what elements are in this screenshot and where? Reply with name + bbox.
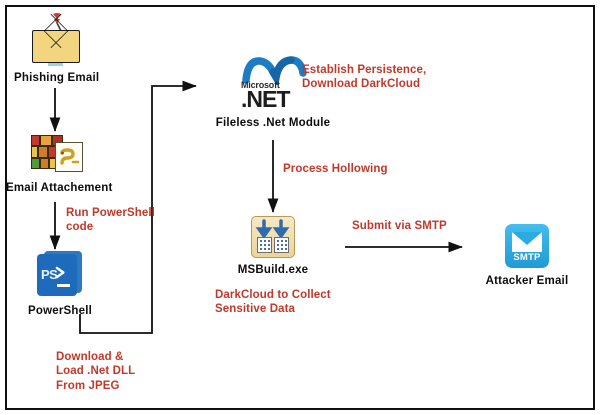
msbuild-card-left bbox=[257, 237, 272, 253]
node-label-msbuild: MSBuild.exe bbox=[218, 264, 328, 276]
annotation-run-powershell-line2: code bbox=[66, 220, 155, 234]
annotation-submit-via-smtp: Submit via SMTP bbox=[352, 219, 447, 233]
envelope-body bbox=[32, 30, 80, 63]
smtp-envelope-icon: SMTP bbox=[505, 224, 549, 268]
smtp-icon-label: SMTP bbox=[505, 252, 549, 263]
annotation-process-hollowing-line1: Process Hollowing bbox=[283, 162, 388, 176]
smtp-icon-box: SMTP bbox=[505, 224, 549, 268]
annotation-download-load-dll: Download & Load .Net DLL From JPEG bbox=[56, 350, 135, 393]
diagram-canvas: Phishing Email bbox=[0, 0, 600, 415]
powershell-icon: PS bbox=[37, 250, 83, 298]
node-label-powershell: PowerShell bbox=[20, 305, 100, 317]
node-attacker-email[interactable]: SMTP Attacker Email bbox=[478, 224, 576, 287]
powershell-chevron-icon bbox=[55, 266, 68, 279]
msbuild-icon bbox=[251, 216, 295, 258]
annotation-establish-persistence: Establish Persistence, Download DarkClou… bbox=[302, 63, 426, 92]
dotnet-logo-icon: Microsoft .NET bbox=[239, 55, 307, 113]
annotation-process-hollowing: Process Hollowing bbox=[283, 162, 388, 176]
node-label-dotnet-module: Fileless .Net Module bbox=[204, 117, 342, 129]
smtp-envelope-shape bbox=[512, 232, 542, 252]
powershell-icon-front: PS bbox=[37, 254, 77, 296]
annotation-download-dll-line2: Load .Net DLL bbox=[56, 364, 135, 378]
annotation-run-powershell: Run PowerShell code bbox=[66, 206, 155, 235]
node-msbuild[interactable]: MSBuild.exe bbox=[218, 216, 328, 276]
snake-script-glyph bbox=[56, 143, 82, 171]
annotation-run-powershell-line1: Run PowerShell bbox=[66, 206, 155, 220]
dotnet-net-text: .NET bbox=[241, 86, 289, 113]
msbuild-card-right bbox=[274, 237, 289, 253]
annotation-establish-line2: Download DarkCloud bbox=[302, 77, 426, 91]
node-label-attacker-email: Attacker Email bbox=[478, 275, 576, 287]
archive-attachment-icon bbox=[28, 132, 88, 176]
annotation-darkcloud-collect: DarkCloud to Collect Sensitive Data bbox=[215, 288, 331, 317]
node-phishing-email[interactable]: Phishing Email bbox=[14, 16, 98, 84]
annotation-darkcloud-line1: DarkCloud to Collect bbox=[215, 288, 331, 302]
node-label-phishing-email: Phishing Email bbox=[14, 72, 98, 84]
envelope-base-shadow bbox=[48, 63, 63, 66]
node-powershell[interactable]: PS PowerShell bbox=[20, 250, 100, 317]
powershell-prompt-underscore bbox=[57, 284, 70, 287]
annotation-establish-line1: Establish Persistence, bbox=[302, 63, 426, 77]
script-file-icon bbox=[55, 142, 83, 172]
annotation-download-dll-line3: From JPEG bbox=[56, 379, 135, 393]
node-label-email-attachment: Email Attachement bbox=[6, 182, 110, 194]
phishing-envelope-icon bbox=[32, 16, 80, 64]
annotation-darkcloud-line2: Sensitive Data bbox=[215, 302, 331, 316]
annotation-download-dll-line1: Download & bbox=[56, 350, 135, 364]
node-email-attachment[interactable]: Email Attachement bbox=[6, 132, 110, 194]
annotation-submit-smtp-line1: Submit via SMTP bbox=[352, 219, 447, 233]
